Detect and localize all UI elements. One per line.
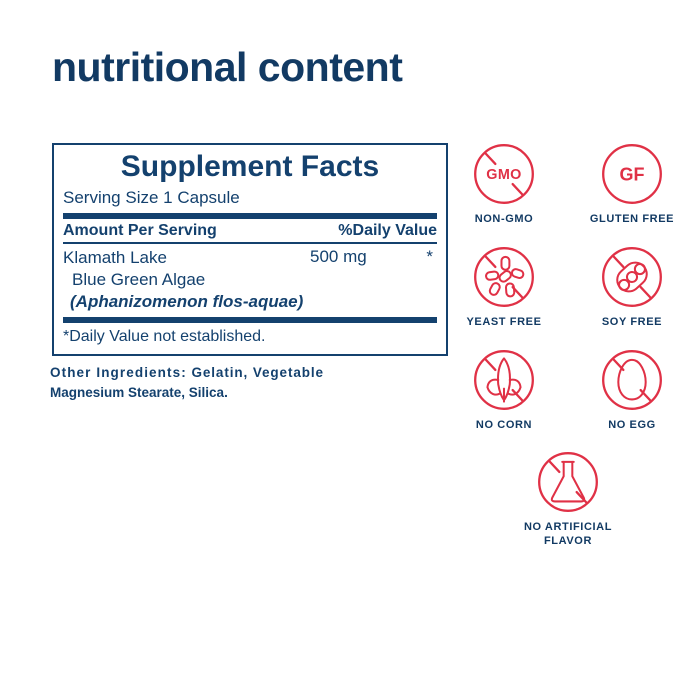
badge-row-3: NO CORN NO EGG xyxy=(448,344,688,433)
soy-free-icon xyxy=(596,241,668,313)
badge-soy-free[interactable]: SOY FREE xyxy=(587,241,677,330)
ingredient-name-line2: Blue Green Algae xyxy=(63,269,437,291)
ingredient-daily-value: * xyxy=(426,247,433,267)
svg-text:GMO: GMO xyxy=(486,167,521,183)
other-ingredients-label: Other Ingredients: xyxy=(50,365,187,380)
badge-label: NON-GMO xyxy=(475,213,534,227)
badge-label: SOY FREE xyxy=(602,316,662,330)
badge-row-2: YEAST FREE SOY FREE xyxy=(448,241,688,330)
other-ingredients-line2: Magnesium Stearate, Silica. xyxy=(50,383,395,403)
daily-value-footnote: *Daily Value not established. xyxy=(63,323,437,347)
badge-label: NO CORN xyxy=(476,419,532,433)
no-corn-icon xyxy=(468,344,540,416)
other-ingredients-line1: Gelatin, Vegetable xyxy=(191,365,324,380)
badge-label: GLUTEN FREE xyxy=(590,213,674,227)
column-header-amount: Amount Per Serving xyxy=(63,221,217,240)
yeast-free-icon xyxy=(468,241,540,313)
ingredient-amount: 500 mg xyxy=(310,247,367,267)
badge-no-corn[interactable]: NO CORN xyxy=(459,344,549,433)
badge-no-artificial-flavor[interactable]: NO ARTIFICIAL FLAVOR xyxy=(523,446,613,549)
non-gmo-icon: GMO xyxy=(468,138,540,210)
ingredient-scientific-name: (Aphanizomenon flos-aquae) xyxy=(63,291,437,313)
column-header-daily-value: %Daily Value xyxy=(338,221,437,240)
badge-gluten-free[interactable]: GF GLUTEN FREE xyxy=(587,138,677,227)
serving-size: Serving Size 1 Capsule xyxy=(63,188,437,212)
no-egg-icon xyxy=(596,344,668,416)
badge-no-egg[interactable]: NO EGG xyxy=(587,344,677,433)
svg-text:GF: GF xyxy=(620,164,645,184)
supplement-facts-panel: Supplement Facts Serving Size 1 Capsule … xyxy=(52,143,448,356)
badge-non-gmo[interactable]: GMO NON-GMO xyxy=(459,138,549,227)
no-artificial-flavor-icon xyxy=(532,446,604,518)
certification-badges: GMO NON-GMO GF GLUTEN FREE xyxy=(448,138,688,563)
badge-row-4: NO ARTIFICIAL FLAVOR xyxy=(448,446,688,549)
badge-row-1: GMO NON-GMO GF GLUTEN FREE xyxy=(448,138,688,227)
badge-label: YEAST FREE xyxy=(466,316,541,330)
badge-label: NO ARTIFICIAL FLAVOR xyxy=(524,521,612,549)
table-column-headers: Amount Per Serving %Daily Value xyxy=(63,219,437,242)
supplement-facts-title: Supplement Facts xyxy=(63,145,437,188)
ingredient-name-line1: Klamath Lake xyxy=(63,247,437,269)
badge-label: NO EGG xyxy=(608,419,656,433)
table-row: Klamath Lake Blue Green Algae (Aphanizom… xyxy=(63,244,437,317)
gluten-free-icon: GF xyxy=(596,138,668,210)
page-title: nutritional content xyxy=(52,46,402,89)
badge-yeast-free[interactable]: YEAST FREE xyxy=(459,241,549,330)
other-ingredients: Other Ingredients: Gelatin, Vegetable Ma… xyxy=(50,363,395,404)
